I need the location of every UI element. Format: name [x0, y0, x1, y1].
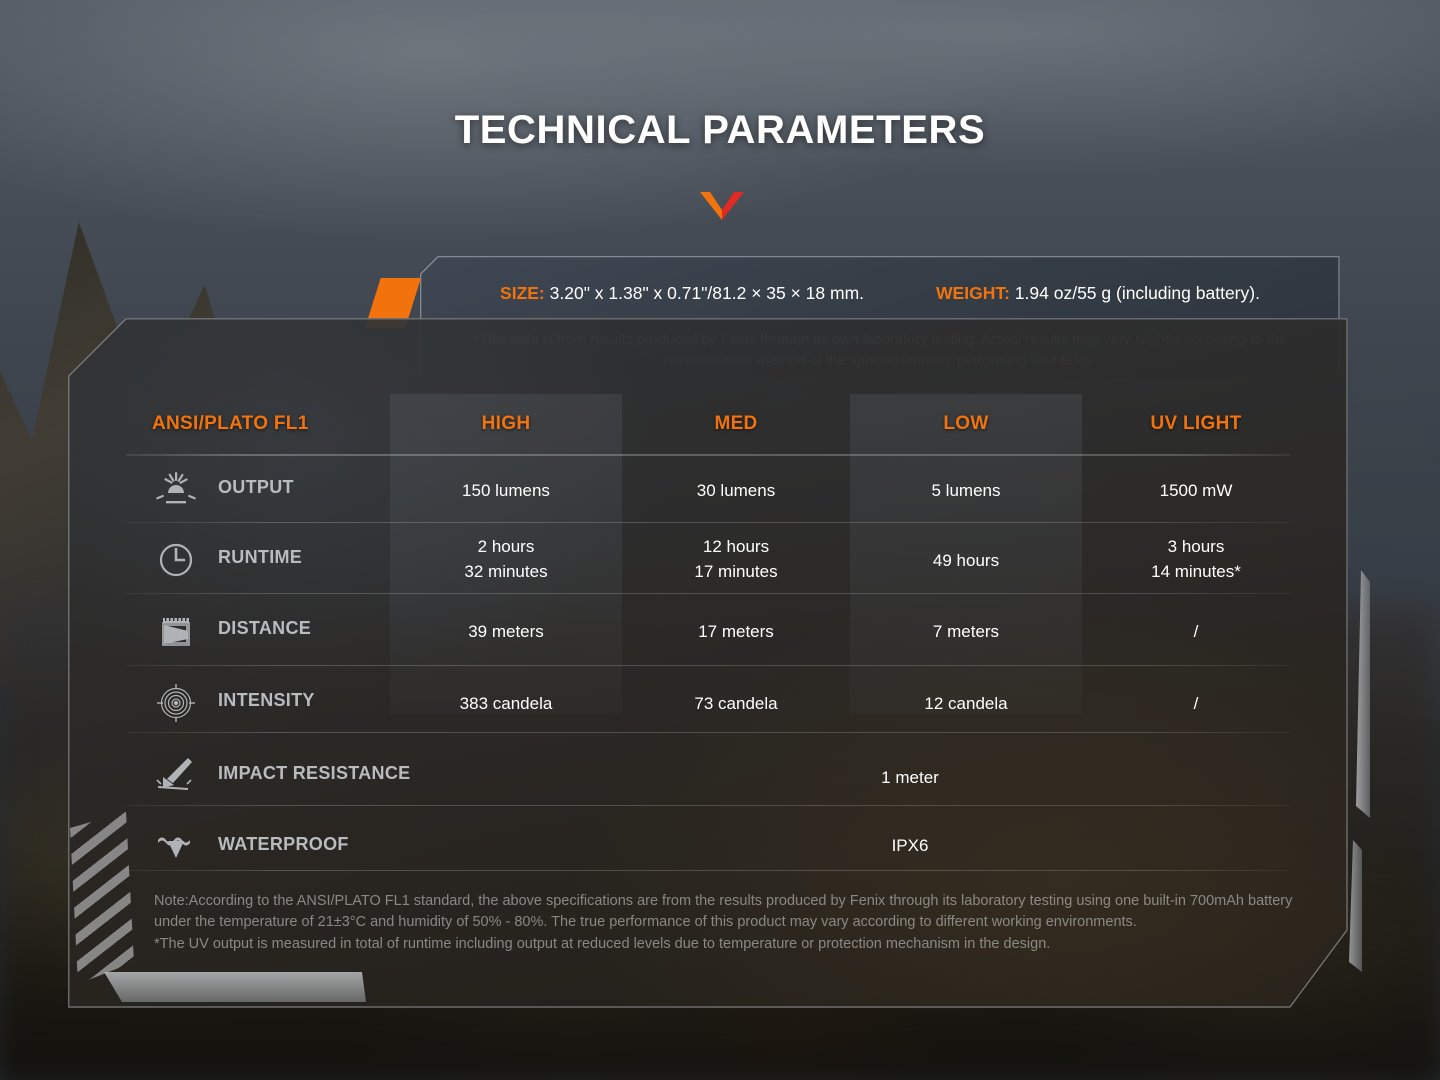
parameters-table: ANSI/PLATO FL1 HIGH MED LOW UV LIGHT OUT… — [68, 318, 1348, 1008]
table-header-med: MED — [620, 402, 852, 446]
table-header-high: HIGH — [390, 402, 622, 446]
size-label: SIZE: — [500, 283, 545, 303]
table-divider — [126, 593, 1290, 594]
footnote-line-1: Note:According to the ANSI/PLATO FL1 sta… — [154, 893, 1292, 930]
cell-intensity-low: 12 candela — [850, 691, 1082, 716]
cell-runtime-high: 2 hours 32 minutes — [390, 534, 622, 584]
cell-runtime-uv: 3 hours 14 minutes* — [1080, 534, 1312, 584]
row-label-waterproof: WATERPROOF — [218, 834, 478, 855]
cell-runtime-low: 49 hours — [850, 548, 1082, 573]
cell-output-high: 150 lumens — [390, 478, 622, 503]
sun-burst-icon — [154, 471, 198, 511]
cell-intensity-uv: / — [1080, 691, 1312, 716]
table-header-ansi: ANSI/PLATO FL1 — [152, 402, 382, 446]
target-icon — [154, 683, 198, 723]
table-divider — [126, 732, 1290, 733]
clock-icon — [154, 540, 198, 580]
table-footnote: Note:According to the ANSI/PLATO FL1 sta… — [154, 891, 1320, 955]
table-header-uvlight: UV LIGHT — [1080, 402, 1312, 446]
table-divider — [126, 870, 1290, 871]
table-header-low: LOW — [850, 402, 1082, 446]
row-label-impact-resistance: IMPACT RESISTANCE — [218, 763, 478, 784]
weight-label: WEIGHT: — [936, 283, 1010, 303]
page-title: TECHNICAL PARAMETERS — [0, 108, 1440, 153]
cell-intensity-med: 73 candela — [620, 691, 852, 716]
table-divider — [126, 805, 1290, 806]
table-divider — [126, 665, 1290, 666]
weight-value: 1.94 oz/55 g (including battery). — [1015, 283, 1260, 303]
cell-impact-resistance-value: 1 meter — [508, 768, 1312, 788]
size-value: 3.20" x 1.38" x 0.71"/81.2 × 35 × 18 mm. — [550, 283, 864, 303]
footnote-line-2: *The UV output is measured in total of r… — [154, 934, 1320, 955]
chevron-down-icon — [700, 190, 744, 220]
spec-summary: SIZE: 3.20" x 1.38" x 0.71"/81.2 × 35 × … — [420, 283, 1340, 304]
waterproof-icon — [154, 826, 198, 866]
cell-runtime-med: 12 hours 17 minutes — [620, 534, 852, 584]
beam-distance-icon — [154, 612, 198, 652]
table-divider — [126, 522, 1290, 523]
cell-distance-uv: / — [1080, 619, 1312, 644]
cell-intensity-high: 383 candela — [390, 691, 622, 716]
cell-waterproof-value: IPX6 — [508, 836, 1312, 856]
cell-distance-med: 17 meters — [620, 619, 852, 644]
cell-distance-high: 39 meters — [390, 619, 622, 644]
cell-output-med: 30 lumens — [620, 478, 852, 503]
cell-output-low: 5 lumens — [850, 478, 1082, 503]
table-divider — [126, 454, 1290, 456]
cell-output-uv: 1500 mW — [1080, 478, 1312, 503]
cell-distance-low: 7 meters — [850, 619, 1082, 644]
impact-arrow-icon — [154, 755, 198, 795]
